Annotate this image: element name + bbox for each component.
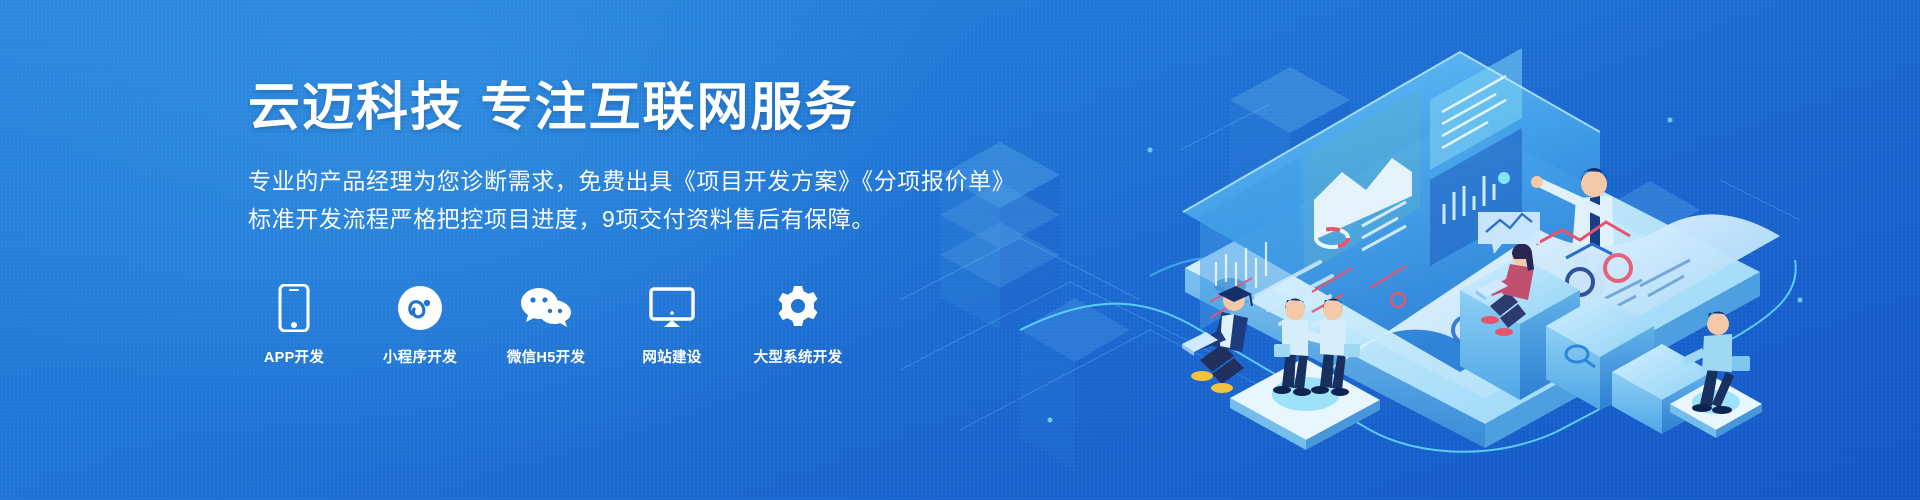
service-label: 网站建设 bbox=[642, 346, 701, 367]
hero-copy-block: 云迈科技 专注互联网服务 专业的产品经理为您诊断需求，免费出具《项目开发方案》《… bbox=[248, 78, 1088, 238]
service-item-website[interactable]: 网站建设 bbox=[626, 282, 718, 367]
service-label: 大型系统开发 bbox=[754, 346, 843, 367]
wechat-icon bbox=[520, 282, 572, 334]
isometric-illustration bbox=[900, 0, 1920, 500]
page-title: 云迈科技 专注互联网服务 bbox=[248, 78, 1088, 139]
monitor-icon bbox=[649, 282, 695, 334]
service-label: APP开发 bbox=[264, 346, 324, 367]
service-item-large-system[interactable]: 大型系统开发 bbox=[752, 282, 844, 367]
subtitle-line-2: 标准开发流程严格把控项目进度，9项交付资料售后有保障。 bbox=[248, 201, 1088, 238]
service-label: 微信H5开发 bbox=[507, 346, 585, 367]
service-label: 小程序开发 bbox=[383, 346, 457, 367]
hero-banner: 云迈科技 专注互联网服务 专业的产品经理为您诊断需求，免费出具《项目开发方案》《… bbox=[0, 0, 1920, 500]
subtitle-line-1: 专业的产品经理为您诊断需求，免费出具《项目开发方案》《分项报价单》 bbox=[248, 163, 1088, 200]
gear-icon bbox=[775, 282, 821, 334]
service-list: APP开发 小程序开发 bbox=[248, 282, 844, 367]
service-item-app[interactable]: APP开发 bbox=[248, 282, 340, 367]
mobile-phone-icon bbox=[278, 282, 310, 334]
service-item-wechat-h5[interactable]: 微信H5开发 bbox=[500, 282, 592, 367]
hero-subtitle: 专业的产品经理为您诊断需求，免费出具《项目开发方案》《分项报价单》 标准开发流程… bbox=[248, 163, 1088, 238]
service-item-mini-program[interactable]: 小程序开发 bbox=[374, 282, 466, 367]
mini-program-icon bbox=[397, 282, 443, 334]
